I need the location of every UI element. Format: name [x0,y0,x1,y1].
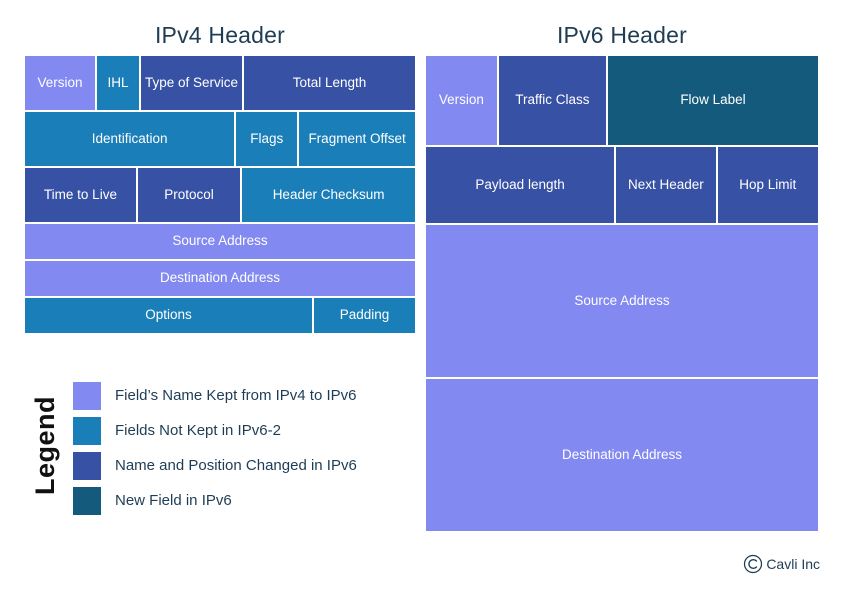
ipv6-row: Destination Address [426,379,818,531]
ipv4-row: Source Address [25,224,415,259]
legend: Legend Field’s Name Kept from IPv4 to IP… [25,378,405,513]
legend-swatch-periwinkle [73,382,101,410]
legend-item-label: Field’s Name Kept from IPv4 to IPv6 [115,387,357,404]
legend-item-label: New Field in IPv6 [115,492,232,509]
ipv4-field-total-length: Total Length [244,56,415,110]
ipv4-field-padding: Padding [314,298,415,333]
legend-item: Fields Not Kept in IPv6-2 [73,413,405,448]
legend-item: Field’s Name Kept from IPv4 to IPv6 [73,378,405,413]
ipv4-field-header-checksum: Header Checksum [242,168,415,222]
ipv4-field-source-address: Source Address [25,224,415,259]
ipv4-row: Time to LiveProtocolHeader Checksum [25,168,415,222]
ipv6-field-hop-limit: Hop Limit [718,147,818,223]
legend-item-label: Fields Not Kept in IPv6-2 [115,422,281,439]
ipv4-field-identification: Identification [25,112,234,166]
legend-swatch-teal [73,417,101,445]
ipv4-row: Destination Address [25,261,415,296]
ipv6-field-next-header: Next Header [616,147,715,223]
ipv4-field-version: Version [25,56,95,110]
ipv6-field-payload-length: Payload length [426,147,614,223]
legend-item: Name and Position Changed in IPv6 [73,448,405,483]
ipv6-header-title: IPv6 Header [426,22,818,49]
ipv6-field-version: Version [426,56,497,145]
legend-heading: Legend [25,378,65,513]
ipv6-field-flow-label: Flow Label [608,56,818,145]
ipv6-row: Payload lengthNext HeaderHop Limit [426,147,818,223]
ipv4-field-options: Options [25,298,312,333]
ipv6-row: VersionTraffic ClassFlow Label [426,56,818,145]
ipv6-row: Source Address [426,225,818,377]
legend-swatch-indigo [73,452,101,480]
ipv6-field-destination-address: Destination Address [426,379,818,531]
brand-logo: Cavli Inc [743,554,820,574]
ipv4-row: OptionsPadding [25,298,415,333]
diagram-canvas: IPv4 Header VersionIHLType of ServiceTot… [0,0,842,596]
ipv4-field-destination-address: Destination Address [25,261,415,296]
ipv4-field-time-to-live: Time to Live [25,168,136,222]
ipv6-field-source-address: Source Address [426,225,818,377]
ipv4-field-type-of-service: Type of Service [141,56,242,110]
ipv4-field-protocol: Protocol [138,168,240,222]
ipv4-field-fragment-offset: Fragment Offset [299,112,415,166]
legend-swatch-dark-teal [73,487,101,515]
ipv6-field-traffic-class: Traffic Class [499,56,606,145]
brand-name: Cavli Inc [766,556,820,572]
ipv4-field-ihl: IHL [97,56,139,110]
legend-item-label: Name and Position Changed in IPv6 [115,457,357,474]
legend-heading-text: Legend [30,396,61,495]
ipv4-row: VersionIHLType of ServiceTotal Length [25,56,415,110]
ipv4-header-title: IPv4 Header [25,22,415,49]
legend-item: New Field in IPv6 [73,483,405,518]
ipv6-header-table: VersionTraffic ClassFlow LabelPayload le… [426,56,818,531]
ipv4-row: IdentificationFlagsFragment Offset [25,112,415,166]
ipv4-header-table: VersionIHLType of ServiceTotal LengthIde… [25,56,415,333]
circled-c-icon [743,554,763,574]
legend-item-list: Field’s Name Kept from IPv4 to IPv6Field… [73,378,405,518]
ipv4-field-flags: Flags [236,112,297,166]
